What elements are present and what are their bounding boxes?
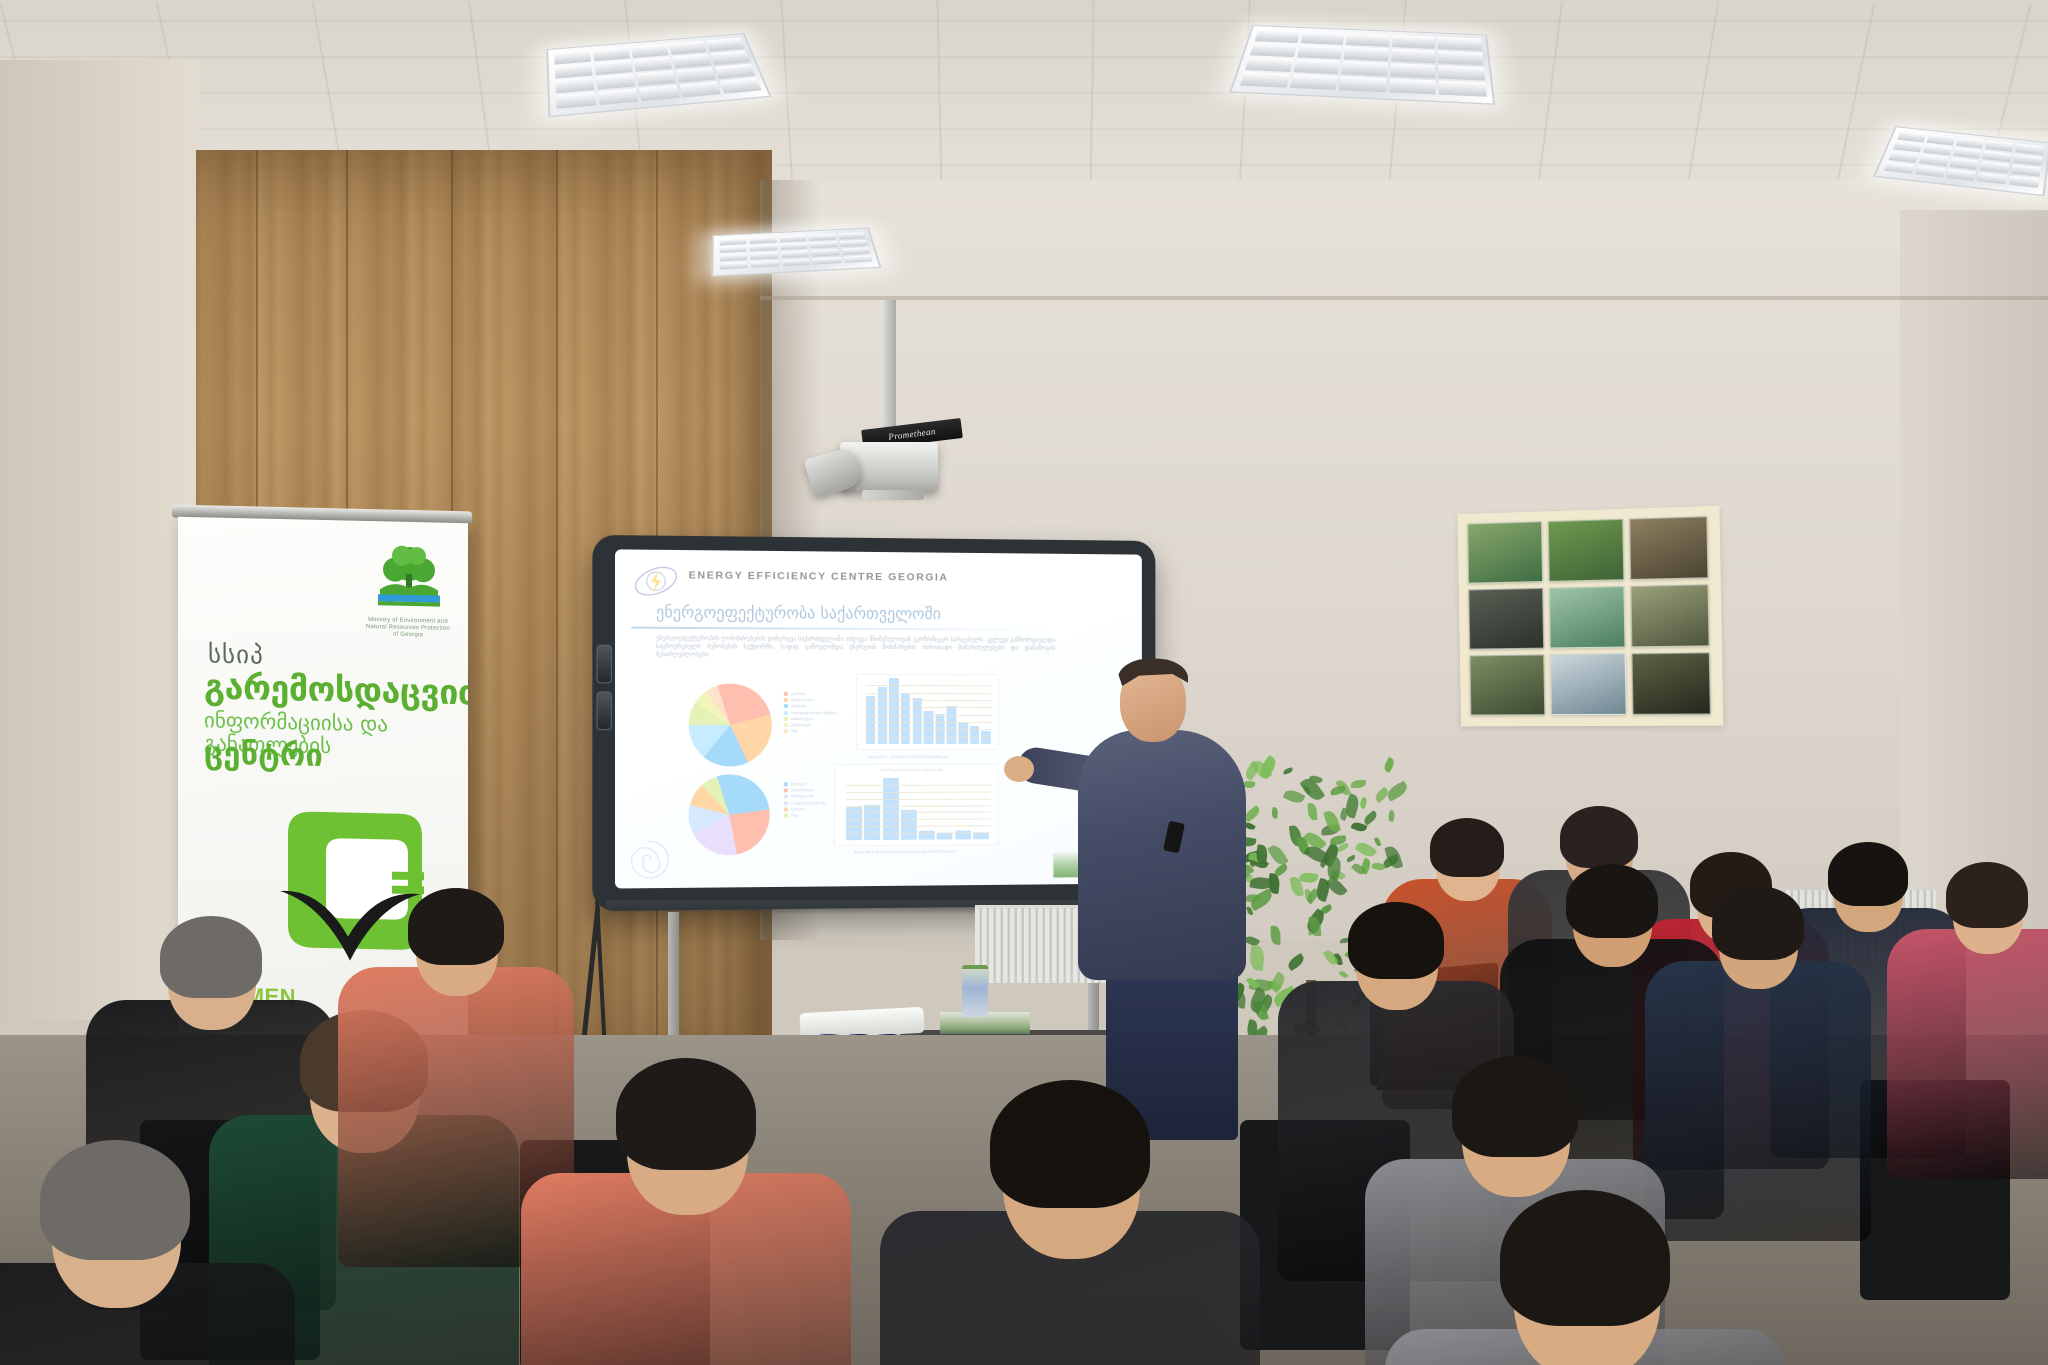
wall-photo-wildflowers-night xyxy=(1632,652,1711,714)
slide-pie-chart-1 xyxy=(689,684,772,767)
ceiling-light-panel-2 xyxy=(1229,25,1495,105)
wall-photo-canyon-landscape xyxy=(1469,655,1544,716)
chart-gridline xyxy=(866,715,993,716)
legend-label: გაგრილება xyxy=(791,723,811,727)
plant-leaf xyxy=(1307,803,1317,820)
legend-label: სოფლის მეურნეობა xyxy=(791,801,826,805)
chart-gridline xyxy=(846,805,991,807)
plant-leaf xyxy=(1339,970,1349,980)
slide-bar-chart-2 xyxy=(846,778,991,841)
legend-swatch xyxy=(784,801,788,805)
left-wall xyxy=(0,60,200,1020)
seminar-room-photo: Ministry of Environment and Natural Reso… xyxy=(0,0,2048,1365)
whiteboard-button-bottom[interactable] xyxy=(596,691,611,730)
attendee-hair xyxy=(1452,1056,1578,1157)
legend-label: გათბობა xyxy=(791,692,806,696)
slide-title-underline xyxy=(631,627,1051,631)
slide-pie-chart-2 xyxy=(689,774,770,855)
projected-slide: ENERGY EFFICIENCY CENTRE GEORGIA ენერგოე… xyxy=(615,549,1142,888)
chart-bar xyxy=(864,805,880,840)
legend-swatch xyxy=(784,789,788,793)
chart-gridline xyxy=(866,737,993,738)
plant-leaf xyxy=(1323,948,1338,966)
banner-org-prefix: სსიპ xyxy=(208,639,264,669)
attendee-torso xyxy=(1645,961,1871,1241)
projector-mount-plate xyxy=(862,490,924,500)
legend-label: განათება xyxy=(791,704,807,708)
slide-bar-chart-1 xyxy=(866,678,993,744)
display-jar xyxy=(962,965,988,1017)
legend-swatch xyxy=(784,795,788,799)
wall-photo-waterfall xyxy=(1550,654,1627,716)
plant-leaf xyxy=(1354,839,1376,859)
chart-gridline xyxy=(866,722,993,723)
chart-bar xyxy=(901,810,917,840)
attendee-hair xyxy=(1500,1190,1670,1326)
plant-leaf xyxy=(1300,872,1319,885)
chart-bar xyxy=(924,711,933,744)
legend-item: გაგრილება xyxy=(784,723,837,727)
chart-gridline xyxy=(866,700,993,701)
plant-leaf xyxy=(1273,863,1289,877)
attendee-hair xyxy=(1566,864,1658,938)
legend-item: განათება xyxy=(784,704,837,708)
wall-photo-meandering-river xyxy=(1549,586,1626,648)
slide-bar-chart-1-caption: დიაგრამა 1. ენერგიის მოხმარების განაწილე… xyxy=(868,755,949,759)
slide-title: ენერგოეფექტურობა საქართველოში xyxy=(656,602,1085,624)
legend-item: სამზარეულო xyxy=(784,717,837,721)
legend-swatch xyxy=(784,717,788,721)
legend-label: მრეწველობა xyxy=(791,795,814,799)
plant-leaf xyxy=(1286,953,1307,971)
nature-photo-grid xyxy=(1467,516,1711,715)
legend-label: სხვა xyxy=(791,813,798,817)
legend-label: სხვა xyxy=(791,729,798,733)
chart-bar xyxy=(947,706,956,744)
attendee-torso xyxy=(1887,929,2048,1179)
legend-label: ცხელი წყალი xyxy=(791,698,815,702)
legend-item: გათბობა xyxy=(784,692,837,696)
attendee-hair xyxy=(1560,806,1638,868)
plant-leaf xyxy=(1282,767,1293,775)
attendee-hair xyxy=(1430,818,1504,877)
whiteboard-display-area[interactable]: ENERGY EFFICIENCY CENTRE GEORGIA ენერგოე… xyxy=(615,549,1142,888)
chart-bar xyxy=(958,723,967,744)
presenter-sweater xyxy=(1078,730,1246,980)
attendee-hair xyxy=(1828,842,1908,906)
legend-swatch xyxy=(784,782,788,786)
attendee-hair xyxy=(1712,886,1804,960)
slide-pie-chart-1-legend: გათბობაცხელი წყალიგანათებასაყოფაცხოვრებო… xyxy=(784,692,837,736)
attendee-hair xyxy=(1946,862,2028,928)
attendee-hair xyxy=(160,916,262,998)
legend-swatch xyxy=(784,807,788,811)
plant-leaf xyxy=(1362,810,1378,825)
chart-bar xyxy=(889,678,898,744)
attendee-hair xyxy=(40,1140,190,1260)
attendee-hair xyxy=(616,1058,756,1170)
plant-leaf xyxy=(1359,797,1369,809)
legend-swatch xyxy=(784,729,788,733)
chart-gridline xyxy=(866,693,993,694)
eiec-book-leaf-logo xyxy=(274,807,424,966)
legend-label: შენობები xyxy=(791,782,807,786)
slide-body-text: ენერგოეფექტურობის ღონისძიებების დანერგვა… xyxy=(656,635,1055,661)
legend-label: სამზარეულო xyxy=(791,717,814,721)
legend-item: სოფლის მეურნეობა xyxy=(784,801,826,805)
chart-gridline xyxy=(846,826,991,828)
chart-gridline xyxy=(866,729,993,730)
wall-top-moulding xyxy=(760,296,2048,300)
chart-gridline xyxy=(846,819,991,821)
chart-bar xyxy=(882,778,898,840)
legend-swatch xyxy=(784,692,788,696)
plant-leaf xyxy=(1387,810,1396,822)
attendee-hair xyxy=(1348,902,1444,979)
wall-photo-rocky-terrain xyxy=(1630,516,1709,580)
chart-gridline xyxy=(846,784,991,786)
legend-swatch xyxy=(784,698,788,702)
ministry-tree-logo xyxy=(372,537,446,617)
wall-photo-green-meadow-village xyxy=(1547,519,1624,582)
legend-label: ტრანსპორტი xyxy=(791,788,814,792)
legend-label: სერვისი xyxy=(791,807,805,811)
banner-org-line3: ცენტრი xyxy=(204,735,323,774)
legend-item: სხვა xyxy=(784,729,837,733)
legend-item: მრეწველობა xyxy=(784,795,826,799)
legend-swatch xyxy=(784,723,788,727)
chart-bar xyxy=(970,726,979,744)
legend-item: სერვისი xyxy=(784,807,826,811)
legend-item: ტრანსპორტი xyxy=(784,788,826,792)
plant-leaf xyxy=(1351,780,1366,788)
slide-spiral-decoration xyxy=(625,837,670,882)
legend-item: შენობები xyxy=(784,782,826,786)
legend-swatch xyxy=(784,704,788,708)
legend-item: საყოფაცხოვრებო ტექნიკა xyxy=(784,710,837,714)
legend-swatch xyxy=(784,813,788,817)
wall-photo-forest-hillside xyxy=(1467,521,1542,583)
ministry-caption: Ministry of Environment and Natural Reso… xyxy=(364,617,452,640)
plant-leaf xyxy=(1270,807,1278,819)
wall-photo-dark-gravel-field xyxy=(1468,588,1543,650)
chart-gridline xyxy=(846,791,991,793)
chart-gridline xyxy=(846,798,991,800)
slide-header-text: ENERGY EFFICIENCY CENTRE GEORGIA xyxy=(689,569,949,583)
plant-leaf xyxy=(1283,788,1306,806)
interactive-whiteboard[interactable]: ENERGY EFFICIENCY CENTRE GEORGIA ენერგოე… xyxy=(592,535,1155,911)
chart-gridline xyxy=(846,812,991,814)
right-wall-return xyxy=(1900,210,2048,950)
slide-pie-chart-2-legend: შენობებიტრანსპორტიმრეწველობასოფლის მეურნ… xyxy=(784,782,826,819)
attendee-hair xyxy=(408,888,504,965)
plant-leaf xyxy=(1374,837,1381,847)
wall-photo-lichen-rocks xyxy=(1631,584,1710,647)
plant-leaf xyxy=(1250,945,1266,971)
slide-bar-chart-2-title: დანაზოგის პოტენციალი სექტორებში xyxy=(880,768,944,772)
slide-bar-chart-2-caption: დიაგრამა 2. დანაზოგის პოტენციალი სექტორე… xyxy=(854,849,957,854)
chart-gridline xyxy=(866,707,993,708)
presenter-hand xyxy=(1004,756,1034,782)
eec-georgia-swirl-logo xyxy=(631,560,680,603)
plant-leaf xyxy=(1345,854,1356,862)
legend-label: საყოფაცხოვრებო ტექნიკა xyxy=(791,710,837,714)
plant-leaf xyxy=(1270,925,1281,944)
legend-item: ცხელი წყალი xyxy=(784,698,837,702)
whiteboard-button-top[interactable] xyxy=(596,645,611,684)
attendee-hair xyxy=(990,1080,1150,1208)
legend-swatch xyxy=(784,710,788,714)
banner-org-line1: გარემოსდაცვითი xyxy=(204,669,454,711)
legend-item: სხვა xyxy=(784,813,826,817)
